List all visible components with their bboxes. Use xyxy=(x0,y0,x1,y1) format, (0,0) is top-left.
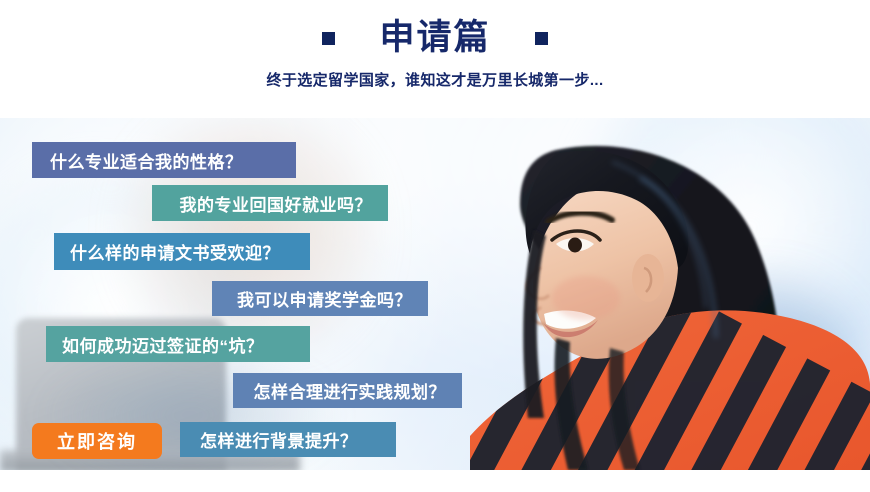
banner-header: 申请篇 终于选定留学国家，谁知这才是万里长城第一步... xyxy=(0,0,870,118)
question-bubble[interactable]: 什么专业适合我的性格？ xyxy=(32,142,296,178)
question-bubble[interactable]: 怎样进行背景提升？ xyxy=(180,422,396,457)
consult-now-label: 立即咨询 xyxy=(57,428,137,454)
question-bubble-label: 什么样的申请文书受欢迎？ xyxy=(70,239,310,264)
question-bubble[interactable]: 我可以申请奖学金吗？ xyxy=(212,281,428,316)
page-title: 申请篇 xyxy=(379,16,490,60)
footer-white-strip xyxy=(0,470,870,492)
promo-banner: 申请篇 终于选定留学国家，谁知这才是万里长城第一步... xyxy=(0,0,870,492)
question-bubble[interactable]: 我的专业回国好就业吗？ xyxy=(152,185,388,221)
question-bubble-label: 如何成功迈过签证的“坑？ xyxy=(62,332,310,357)
question-bubble-label: 我的专业回国好就业吗？ xyxy=(152,191,372,216)
question-bubble-label: 怎样合理进行实践规划？ xyxy=(233,378,446,403)
consult-now-button[interactable]: 立即咨询 xyxy=(32,423,162,459)
title-row: 申请篇 xyxy=(322,16,547,60)
question-bubble[interactable]: 什么样的申请文书受欢迎？ xyxy=(54,233,310,270)
question-bubble-label: 怎样进行背景提升？ xyxy=(200,427,396,452)
question-bubble[interactable]: 怎样合理进行实践规划？ xyxy=(233,373,462,408)
hero-photo: 什么专业适合我的性格？ 我的专业回国好就业吗？ 什么样的申请文书受欢迎？ 我可以… xyxy=(0,118,870,470)
question-bubble[interactable]: 如何成功迈过签证的“坑？ xyxy=(46,326,310,362)
square-bullet-left-icon xyxy=(322,32,335,45)
page-subtitle: 终于选定留学国家，谁知这才是万里长城第一步... xyxy=(266,69,603,90)
question-bubble-label: 我可以申请奖学金吗？ xyxy=(212,286,412,311)
square-bullet-right-icon xyxy=(535,32,548,45)
question-bubble-label: 什么专业适合我的性格？ xyxy=(50,148,296,173)
